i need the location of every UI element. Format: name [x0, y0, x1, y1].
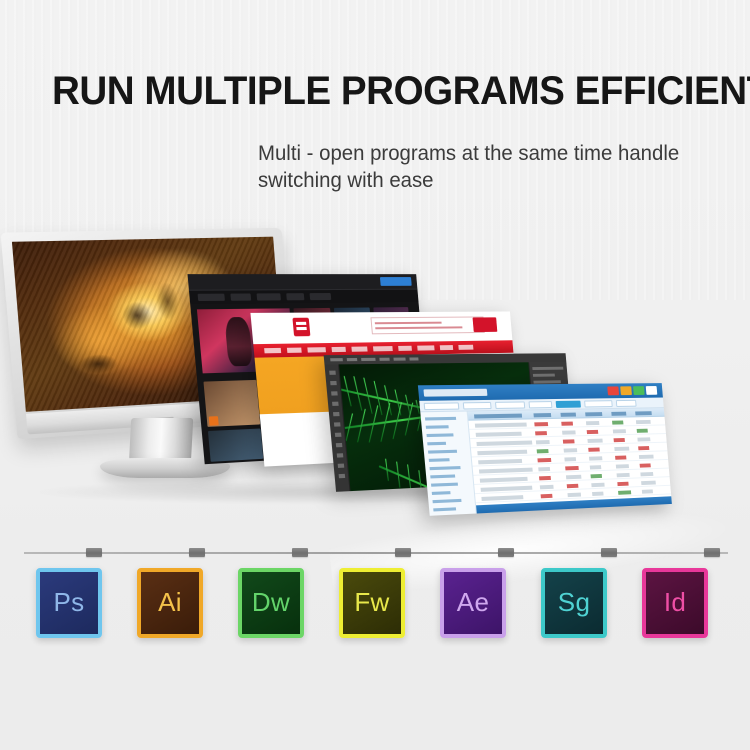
rail-tick	[86, 548, 102, 557]
app-icon-label: Sg	[558, 589, 590, 615]
page-subtitle: Multi - open programs at the same time h…	[258, 140, 724, 194]
hero-illustration	[0, 212, 750, 532]
video-titlebar	[187, 274, 417, 291]
rail-tick	[704, 548, 720, 557]
shop-logo	[292, 318, 310, 337]
app-icon-illustrator[interactable]: Ai	[137, 568, 203, 638]
app-icon-strip[interactable]: PsAiDwFwAeSgId	[0, 568, 750, 640]
rail-tick	[189, 548, 205, 557]
app-icon-after-effects[interactable]: Ae	[440, 568, 506, 638]
app-icon-dreamweaver[interactable]: Dw	[238, 568, 304, 638]
app-icon-label: Ai	[158, 589, 182, 615]
rail-line	[24, 552, 728, 554]
shop-search-box	[370, 316, 484, 334]
window-data-table	[418, 383, 672, 516]
page-title: RUN MULTIPLE PROGRAMS EFFICIENTLY	[52, 68, 708, 114]
timeline-rail	[24, 548, 728, 558]
rail-tick	[292, 548, 308, 557]
app-icon-fireworks[interactable]: Fw	[339, 568, 405, 638]
app-icon-label: Fw	[354, 589, 389, 615]
app-icon-photoshop[interactable]: Ps	[36, 568, 102, 638]
data-app-grid	[468, 408, 672, 513]
promo-banner: RUN MULTIPLE PROGRAMS EFFICIENTLY Multi …	[0, 0, 750, 750]
app-icon-indesign[interactable]: Id	[642, 568, 708, 638]
app-icon-label: Dw	[252, 589, 290, 615]
shop-cta-button	[473, 317, 498, 332]
app-icon-label: Ae	[457, 589, 489, 615]
app-icon-label: Id	[664, 589, 686, 615]
rail-tick	[395, 548, 411, 557]
video-action-button	[380, 277, 412, 286]
rail-tick	[498, 548, 514, 557]
data-app-tabs	[607, 386, 659, 395]
app-icon-scout[interactable]: Sg	[541, 568, 607, 638]
video-navbar	[189, 290, 419, 305]
rail-tick	[601, 548, 617, 557]
data-app-brand	[423, 389, 487, 397]
shop-header	[250, 311, 512, 344]
app-icon-label: Ps	[54, 589, 85, 615]
